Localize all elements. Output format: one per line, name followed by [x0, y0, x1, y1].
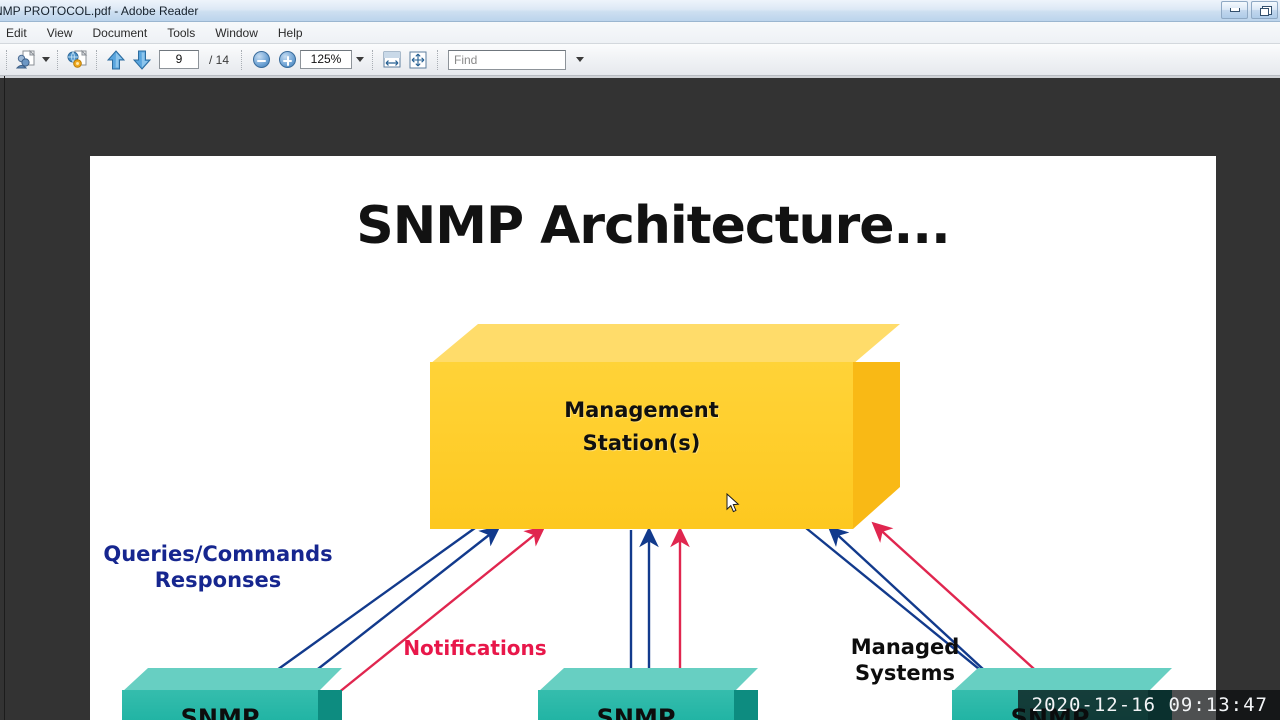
- managed-system-box-middle: SNMP: [538, 668, 758, 720]
- menu-bar: Edit View Document Tools Window Help: [0, 22, 1280, 44]
- managed-box-top-face: [538, 668, 758, 692]
- queries-commands-label-line1: Queries/Commands: [103, 542, 332, 566]
- management-box-side-face: [853, 362, 900, 529]
- view-edge-divider: [4, 76, 5, 720]
- toolbar-separator: [241, 50, 242, 70]
- management-station-label-line2: Station(s): [583, 431, 701, 455]
- chevron-down-icon: [42, 57, 50, 62]
- minus-circle-icon: [253, 51, 270, 68]
- main-toolbar: 9 / 14 125% Find: [0, 44, 1280, 76]
- window-title-bar[interactable]: NMP PROTOCOL.pdf - Adobe Reader: [0, 0, 1280, 22]
- zoom-out-button[interactable]: [248, 47, 274, 73]
- restore-icon: [1260, 6, 1270, 15]
- find-input[interactable]: Find: [448, 50, 566, 70]
- attach-web-button[interactable]: [64, 47, 90, 73]
- fit-width-icon: [381, 50, 403, 70]
- queries-commands-label: Queries/Commands Responses: [88, 541, 348, 594]
- managed-system-box-left: SNMP: [122, 668, 342, 720]
- arrow-down-icon: [132, 49, 152, 71]
- zoom-dropdown-button[interactable]: [352, 50, 366, 69]
- zoom-level-input[interactable]: 125%: [300, 50, 352, 69]
- menu-item-document[interactable]: Document: [82, 24, 157, 42]
- window-controls: [1221, 1, 1278, 19]
- menu-item-view[interactable]: View: [37, 24, 83, 42]
- notifications-label: Notifications: [390, 636, 560, 661]
- toolbar-separator: [6, 50, 7, 70]
- managed-systems-label-line2: Systems: [855, 661, 955, 685]
- page-number-input[interactable]: 9: [159, 50, 199, 69]
- pdf-page: SNMP Architecture...: [90, 156, 1216, 720]
- page-total-label: / 14: [209, 53, 229, 67]
- management-box-top-face: [430, 324, 900, 364]
- managed-system-label: SNMP: [122, 704, 318, 720]
- window-title: NMP PROTOCOL.pdf - Adobe Reader: [0, 4, 198, 18]
- managed-box-side-face: [734, 690, 758, 720]
- fit-page-button[interactable]: [405, 47, 431, 73]
- managed-systems-label-line1: Managed: [851, 635, 960, 659]
- zoom-in-button[interactable]: [274, 47, 300, 73]
- share-dropdown-button[interactable]: [39, 47, 51, 73]
- plus-circle-icon: [279, 51, 296, 68]
- fit-width-button[interactable]: [379, 47, 405, 73]
- management-station-label-line1: Management: [564, 398, 719, 422]
- managed-systems-label: Managed Systems: [820, 634, 990, 687]
- toolbar-separator: [57, 50, 58, 70]
- toolbar-separator: [437, 50, 438, 70]
- minimize-icon: [1230, 8, 1240, 12]
- management-station-label: Management Station(s): [430, 394, 853, 459]
- menu-item-help[interactable]: Help: [268, 24, 313, 42]
- menu-item-window[interactable]: Window: [205, 24, 268, 42]
- menu-item-tools[interactable]: Tools: [157, 24, 205, 42]
- toolbar-separator: [372, 50, 373, 70]
- globe-document-icon: [66, 49, 88, 71]
- next-page-button[interactable]: [129, 47, 155, 73]
- arrow-up-icon: [106, 49, 126, 71]
- managed-box-side-face: [318, 690, 342, 720]
- document-view[interactable]: SNMP Architecture...: [0, 76, 1280, 720]
- chevron-down-icon: [356, 57, 364, 62]
- previous-page-button[interactable]: [103, 47, 129, 73]
- share-document-icon: [15, 49, 37, 71]
- timestamp-overlay: 2020-12-16 09:13:47: [1018, 690, 1280, 720]
- managed-box-top-face: [122, 668, 342, 692]
- managed-system-label: SNMP: [538, 704, 734, 720]
- slide-title: SNMP Architecture...: [90, 196, 1216, 256]
- find-dropdown-button[interactable]: [572, 47, 586, 73]
- restore-button[interactable]: [1251, 1, 1278, 19]
- menu-item-edit[interactable]: Edit: [0, 24, 37, 42]
- fit-page-icon: [407, 50, 429, 70]
- share-document-button[interactable]: [13, 47, 39, 73]
- toolbar-separator: [96, 50, 97, 70]
- queries-commands-label-line2: Responses: [155, 568, 282, 592]
- find-placeholder: Find: [449, 53, 477, 67]
- management-station-box: Management Station(s): [430, 324, 900, 529]
- minimize-button[interactable]: [1221, 1, 1248, 19]
- chevron-down-icon: [576, 57, 584, 62]
